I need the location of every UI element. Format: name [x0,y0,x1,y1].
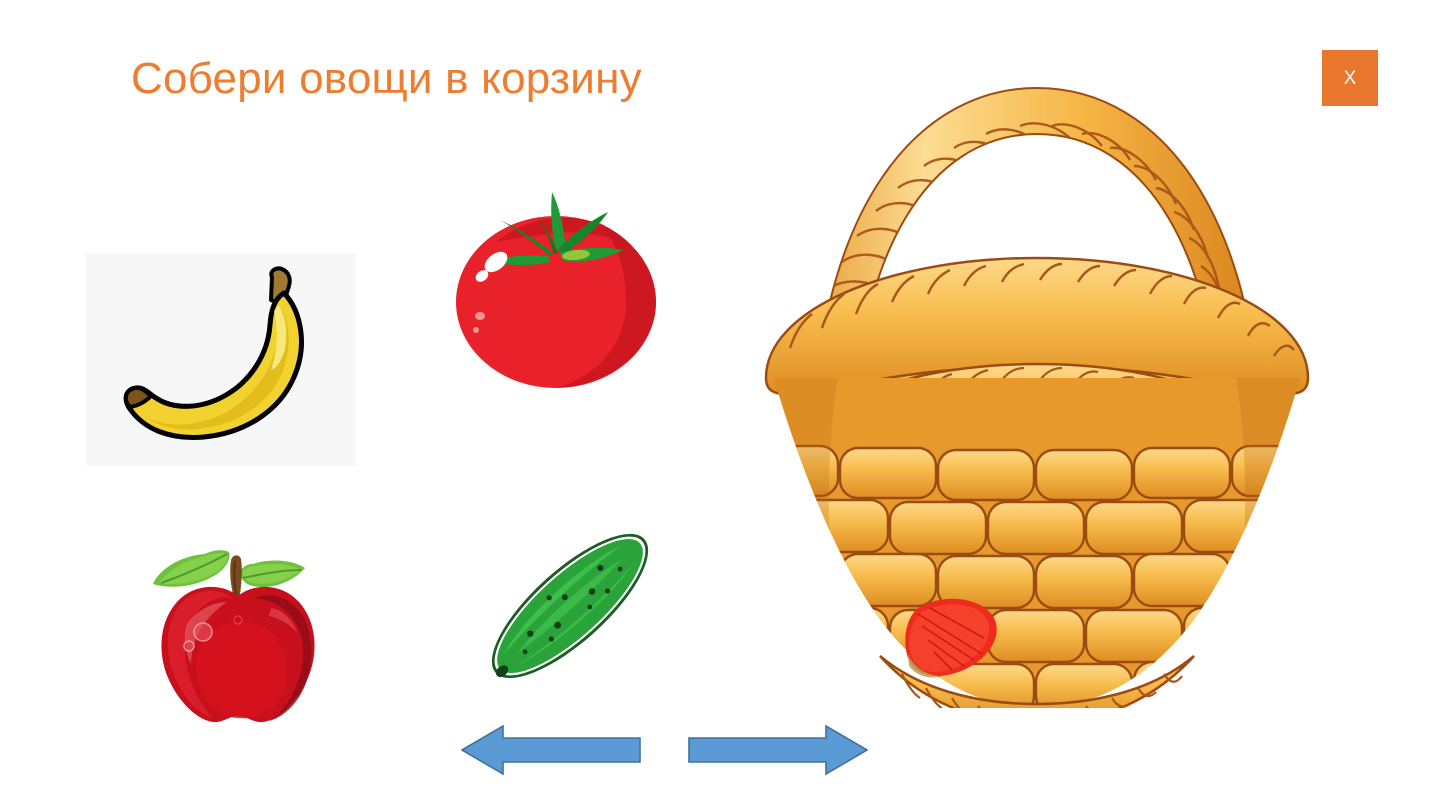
slide-canvas: Собери овощи в корзину X [0,0,1431,805]
cucumber-icon [460,516,680,696]
arrow-right-button[interactable] [688,722,868,778]
banana-icon [86,253,356,466]
apple-card[interactable] [143,528,333,733]
arrow-left-button[interactable] [461,722,641,778]
apple-icon [143,528,333,733]
tomato-icon [448,178,673,394]
basket-card[interactable] [752,48,1322,708]
arrow-right-icon [688,722,868,778]
arrow-left-icon [461,722,641,778]
page-title: Собери овощи в корзину [131,50,642,108]
close-icon: X [1344,69,1357,88]
basket-icon [752,48,1322,708]
basket-body [752,348,1322,708]
banana-card[interactable] [86,253,356,466]
close-button[interactable]: X [1322,50,1378,106]
tomato-card[interactable] [448,178,673,394]
cucumber-card[interactable] [460,516,680,696]
